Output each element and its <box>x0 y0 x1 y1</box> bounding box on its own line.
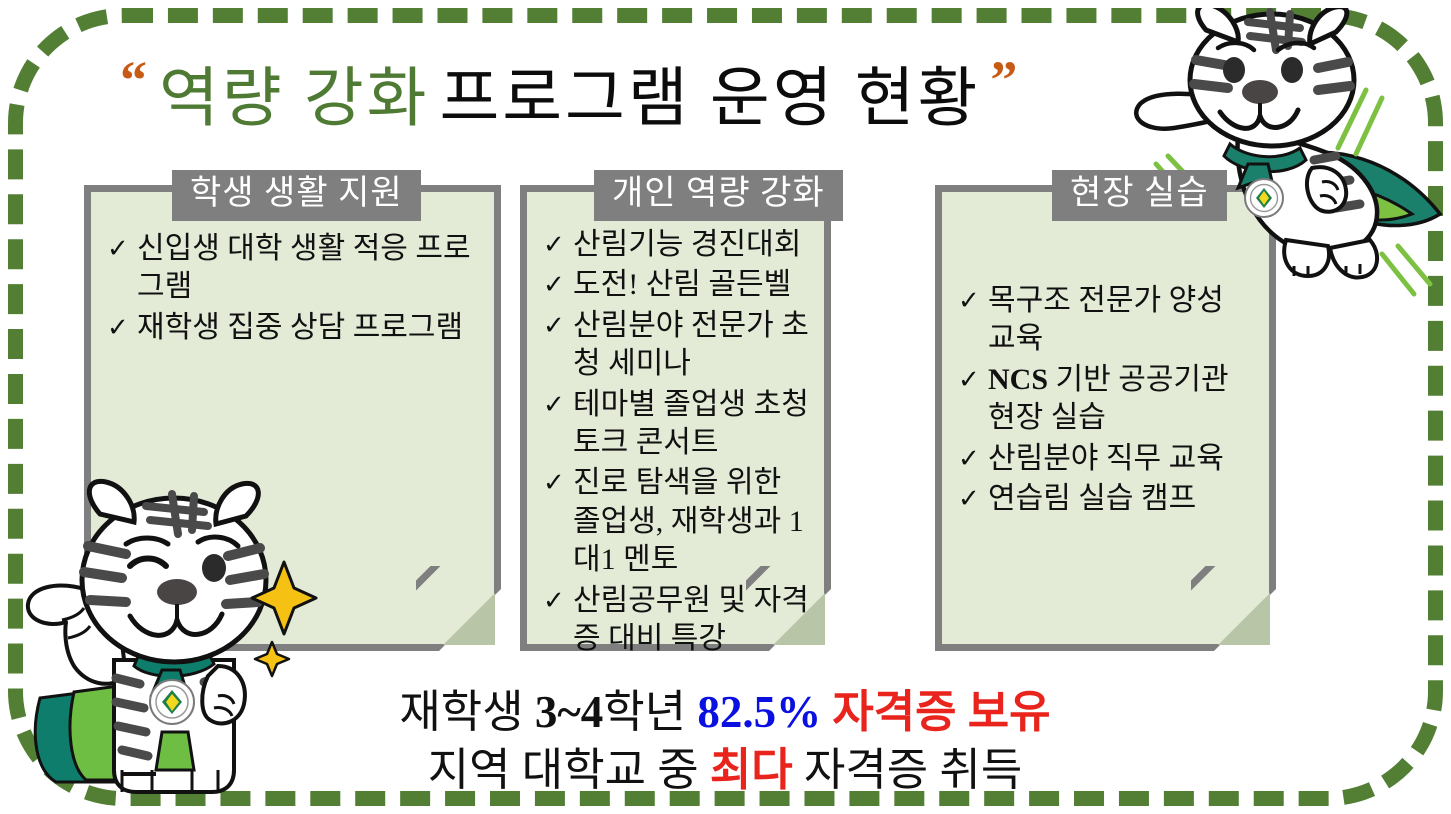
list-item-label: 신입생 대학 생활 적응 프로그램 <box>137 230 480 307</box>
check-icon: ✓ <box>543 464 573 502</box>
card-body: ✓ 산림기능 경진대회 ✓ 도전! 산림 골든벨 ✓ 산림분야 전문가 초청 세… <box>527 226 824 660</box>
card-item-list: ✓ 목구조 전문가 양성 교육 ✓ NCS 기반 공공기관 현장 실습 ✓ 산림… <box>958 282 1255 518</box>
check-icon: ✓ <box>543 582 573 620</box>
summary-l2-part1: 지역 대학교 중 <box>428 745 710 795</box>
summary-l1-grades: 3~4 <box>535 687 603 737</box>
card-item-list: ✓ 산림기능 경진대회 ✓ 도전! 산림 골든벨 ✓ 산림분야 전문가 초청 세… <box>543 226 810 658</box>
list-item-label: 도전! 산림 골든벨 <box>573 266 810 304</box>
list-item-label: 산림분야 직무 교육 <box>988 440 1255 478</box>
card-personal-capability: ✓ 산림기능 경진대회 ✓ 도전! 산림 골든벨 ✓ 산림분야 전문가 초청 세… <box>520 185 831 651</box>
check-icon: ✓ <box>107 309 137 347</box>
card-body: ✓ 신입생 대학 생활 적응 프로그램 ✓ 재학생 집중 상담 프로그램 <box>91 230 494 349</box>
list-item: ✓ 테마별 졸업생 초청 토크 콘서트 <box>543 386 810 463</box>
card-title-student-life-support: 학생 생활 지원 <box>172 170 421 221</box>
list-item: ✓ 신입생 대학 생활 적응 프로그램 <box>107 230 480 307</box>
list-item: ✓ 진로 탐색을 위한 졸업생, 재학생과 1대1 멘토 <box>543 464 810 579</box>
summary-l1-suffix: 자격증 보유 <box>821 687 1051 737</box>
card-item-list: ✓ 신입생 대학 생활 적응 프로그램 ✓ 재학생 집중 상담 프로그램 <box>107 230 480 347</box>
summary-line-2: 지역 대학교 중 최다 자격증 취득 <box>250 742 1200 800</box>
check-icon: ✓ <box>543 266 573 304</box>
card-body: ✓ 목구조 전문가 양성 교육 ✓ NCS 기반 공공기관 현장 실습 ✓ 산림… <box>942 282 1269 520</box>
summary-percentage: 82.5% <box>697 687 821 737</box>
check-icon: ✓ <box>543 226 573 264</box>
summary-l2-part2: 자격증 취득 <box>793 745 1023 795</box>
list-item: ✓ 산림기능 경진대회 <box>543 226 810 264</box>
slide-root: “ 역량 강화 프로그램 운영 현황 ” ✓ 신입생 대학 생활 적응 프로그램… <box>0 0 1451 814</box>
page-title-highlight: 역량 강화 <box>159 45 429 139</box>
list-item-label: 진로 탐색을 위한 졸업생, 재학생과 1대1 멘토 <box>573 464 810 579</box>
tiger-mascot-flying <box>1130 8 1448 308</box>
list-item: ✓ 재학생 집중 상담 프로그램 <box>107 309 480 347</box>
list-item-label: 연습림 실습 캠프 <box>988 480 1255 518</box>
card-title-personal-capability: 개인 역량 강화 <box>594 170 843 221</box>
check-icon: ✓ <box>958 282 988 320</box>
summary-l1-part3: 학년 <box>603 687 697 737</box>
summary-l2-highlight: 최다 <box>710 745 793 795</box>
list-item-label: 재학생 집중 상담 프로그램 <box>137 309 480 347</box>
card-title-field-practice: 현장 실습 <box>1052 170 1227 221</box>
card-fold-edge <box>1191 566 1277 652</box>
close-quote-mark: ” <box>990 53 1017 107</box>
list-item: ✓ 산림분야 전문가 초청 세미나 <box>543 307 810 384</box>
list-item: ✓ 연습림 실습 캠프 <box>958 480 1255 518</box>
list-item: ✓ 도전! 산림 골든벨 <box>543 266 810 304</box>
list-item-label-ncs: NCS 기반 공공기관 현장 실습 <box>988 361 1255 438</box>
check-icon: ✓ <box>543 307 573 345</box>
list-item-label: 산림공무원 및 자격증 대비 특강 <box>573 582 810 659</box>
check-icon: ✓ <box>958 480 988 518</box>
list-item: ✓ NCS 기반 공공기관 현장 실습 <box>958 361 1255 438</box>
check-icon: ✓ <box>958 361 988 399</box>
check-icon: ✓ <box>543 386 573 424</box>
list-item-label: 산림분야 전문가 초청 세미나 <box>573 307 810 384</box>
open-quote-mark: “ <box>120 53 147 107</box>
list-item-label: 산림기능 경진대회 <box>573 226 810 264</box>
page-title: “ 역량 강화 프로그램 운영 현황 ” <box>120 44 1180 140</box>
ncs-acronym: NCS <box>988 363 1048 396</box>
list-item: ✓ 산림분야 직무 교육 <box>958 440 1255 478</box>
card-fold-edge <box>416 566 502 652</box>
tiger-mascot-pointing <box>22 470 322 800</box>
list-item-highlighted: ✓ 산림공무원 및 자격증 대비 특강 <box>543 582 810 659</box>
check-icon: ✓ <box>958 440 988 478</box>
page-title-rest: 프로그램 운영 현황 <box>439 45 980 139</box>
list-item-label: 테마별 졸업생 초청 토크 콘서트 <box>573 386 810 463</box>
summary-l1-part1: 재학생 <box>399 687 534 737</box>
check-icon: ✓ <box>107 230 137 268</box>
summary-statement: 재학생 3~4학년 82.5% 자격증 보유 지역 대학교 중 최다 자격증 취… <box>250 684 1200 799</box>
summary-line-1: 재학생 3~4학년 82.5% 자격증 보유 <box>250 684 1200 742</box>
